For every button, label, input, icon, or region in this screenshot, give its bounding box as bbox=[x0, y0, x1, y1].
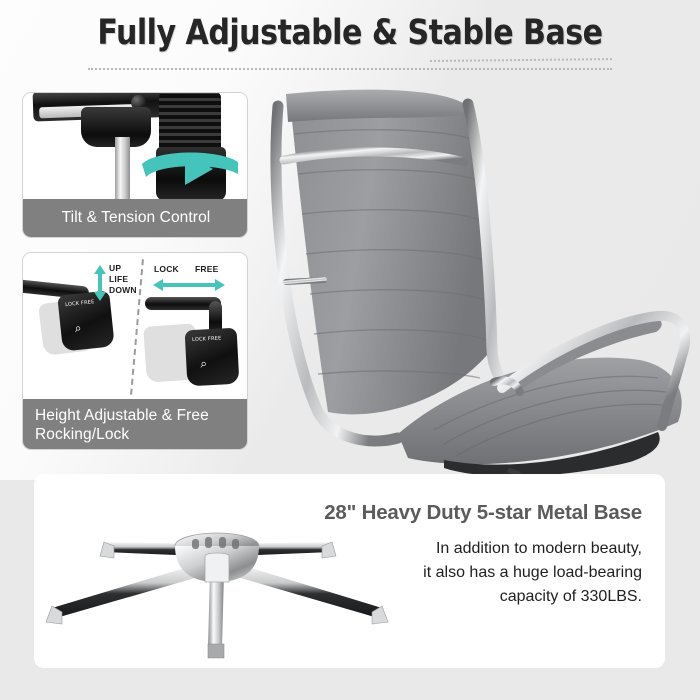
base-card-body-line2: it also has a huge load-bearing bbox=[423, 564, 642, 581]
lever-pad-left: LOCK FREE ⌕ bbox=[57, 290, 115, 351]
axis-label-lock: LOCK bbox=[154, 265, 179, 275]
pad-symbol-left: ⌕ bbox=[74, 322, 82, 335]
title-divider-flourish bbox=[430, 58, 612, 63]
title-divider-dotted bbox=[88, 68, 612, 71]
office-chair-photo bbox=[258, 82, 700, 474]
feature-panel-tilt-tension: Tilt & Tension Control bbox=[22, 92, 248, 238]
panel-caption-height-line1: Height Adjustable & Free bbox=[35, 407, 209, 424]
chair-backrest bbox=[290, 96, 488, 415]
base-card-body-line1: In addition to modern beauty, bbox=[436, 540, 642, 557]
lever-pad-right: LOCK FREE ⌕ bbox=[185, 328, 240, 387]
feature-panel-height-rocking: LOCK FREE ⌕ UP LIFE DOWN LOCK FREE LOCK … bbox=[22, 252, 248, 450]
rotation-arrow-icon bbox=[139, 147, 245, 193]
base-info-card: 28" Heavy Duty 5-star Metal Base In addi… bbox=[34, 474, 665, 668]
axis-label-up: UP bbox=[109, 264, 121, 274]
pad-glyph-left: LOCK FREE bbox=[65, 299, 95, 308]
five-star-metal-base-photo bbox=[42, 522, 392, 662]
pad-glyph-right: LOCK FREE bbox=[192, 335, 222, 343]
panel-split-dashed-line bbox=[130, 259, 144, 395]
page-title: Fully Adjustable & Stable Base bbox=[49, 13, 651, 53]
base-card-body-line3: capacity of 330LBS. bbox=[500, 588, 642, 605]
axis-label-down: DOWN bbox=[109, 286, 137, 296]
height-lever-photo: LOCK FREE ⌕ UP LIFE DOWN LOCK FREE LOCK … bbox=[23, 253, 247, 401]
panel-caption-tilt: Tilt & Tension Control bbox=[23, 199, 247, 237]
axis-label-free: FREE bbox=[195, 265, 218, 275]
up-down-arrow-icon bbox=[94, 265, 106, 301]
hub-collar bbox=[205, 553, 229, 582]
product-feature-graphic: Fully Adjustable & Stable Base Tilt & Te… bbox=[0, 0, 700, 700]
tilt-tension-knob-photo bbox=[23, 93, 247, 201]
panel-caption-height-line2: Rocking/Lock bbox=[35, 426, 129, 443]
gas-cylinder-rod bbox=[115, 137, 130, 201]
left-right-arrow-icon bbox=[153, 279, 225, 291]
axis-label-life: LIFE bbox=[109, 275, 128, 285]
panel-caption-height: Height Adjustable & Free Rocking/Lock bbox=[23, 399, 247, 449]
pad-symbol-right: ⌕ bbox=[200, 357, 208, 369]
header: Fully Adjustable & Stable Base bbox=[0, 0, 700, 84]
chrome-side-lever bbox=[286, 280, 324, 282]
